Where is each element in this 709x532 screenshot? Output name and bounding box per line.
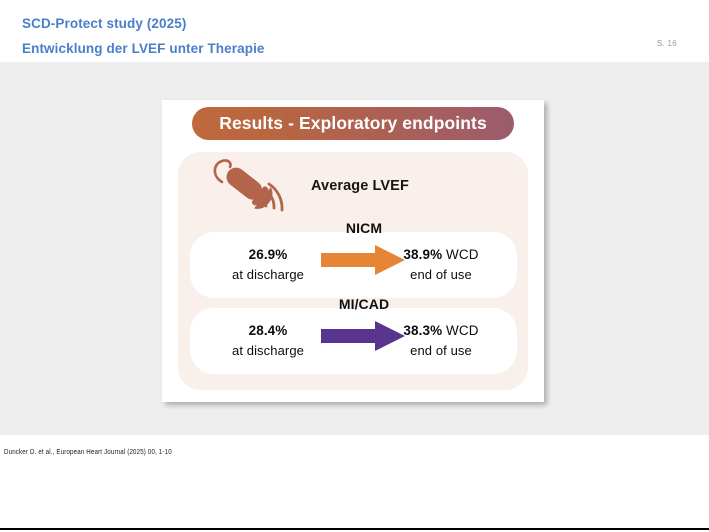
result-left-nicm: 26.9% at discharge	[204, 244, 332, 284]
page-title-line-1: SCD-Protect study (2025)	[22, 16, 186, 31]
nicm-left-value: 26.9%	[249, 247, 288, 262]
nicm-group-label: NICM	[316, 220, 412, 236]
nicm-left-sublabel: at discharge	[204, 266, 332, 284]
slide-footer: Duncker D. et al., European Heart Journa…	[0, 435, 709, 528]
result-row-nicm: 26.9% at discharge NICM 38.9% WCD end	[190, 232, 517, 298]
result-left-micad: 28.4% at discharge	[204, 320, 332, 360]
slide-header: SCD-Protect study (2025) Entwicklung der…	[0, 0, 709, 62]
ultrasound-probe-icon	[204, 156, 290, 222]
micad-left-value: 28.4%	[249, 323, 288, 338]
micad-right-value-suffix: WCD	[442, 323, 478, 338]
average-lvef-row: Average LVEF	[178, 152, 528, 230]
result-row-micad: 28.4% at discharge MI/CAD 38.3% WCD e	[190, 308, 517, 374]
slide-body-background: Results - Exploratory endpoints	[0, 62, 709, 435]
citation-text: Duncker D. et al., European Heart Journa…	[4, 448, 172, 456]
figure-header-pill: Results - Exploratory endpoints	[192, 107, 514, 140]
page-number: S. 16	[657, 39, 677, 48]
figure-header-label: Results - Exploratory endpoints	[219, 113, 487, 134]
result-right-nicm: 38.9% WCD end of use	[373, 244, 509, 284]
micad-right-sublabel: end of use	[373, 342, 509, 360]
figure-inner-panel: Average LVEF 26.9% at discharge NICM	[178, 152, 528, 390]
nicm-right-value: 38.9%	[403, 247, 442, 262]
micad-group-label: MI/CAD	[316, 296, 412, 312]
page-title-line-2: Entwicklung der LVEF unter Therapie	[22, 41, 265, 56]
micad-left-sublabel: at discharge	[204, 342, 332, 360]
result-right-micad: 38.3% WCD end of use	[373, 320, 509, 360]
slide-canvas: SCD-Protect study (2025) Entwicklung der…	[0, 0, 709, 530]
nicm-right-sublabel: end of use	[373, 266, 509, 284]
average-lvef-label: Average LVEF	[311, 178, 409, 194]
micad-right-value: 38.3%	[403, 323, 442, 338]
nicm-right-value-suffix: WCD	[442, 247, 478, 262]
figure-card: Results - Exploratory endpoints	[162, 100, 544, 402]
